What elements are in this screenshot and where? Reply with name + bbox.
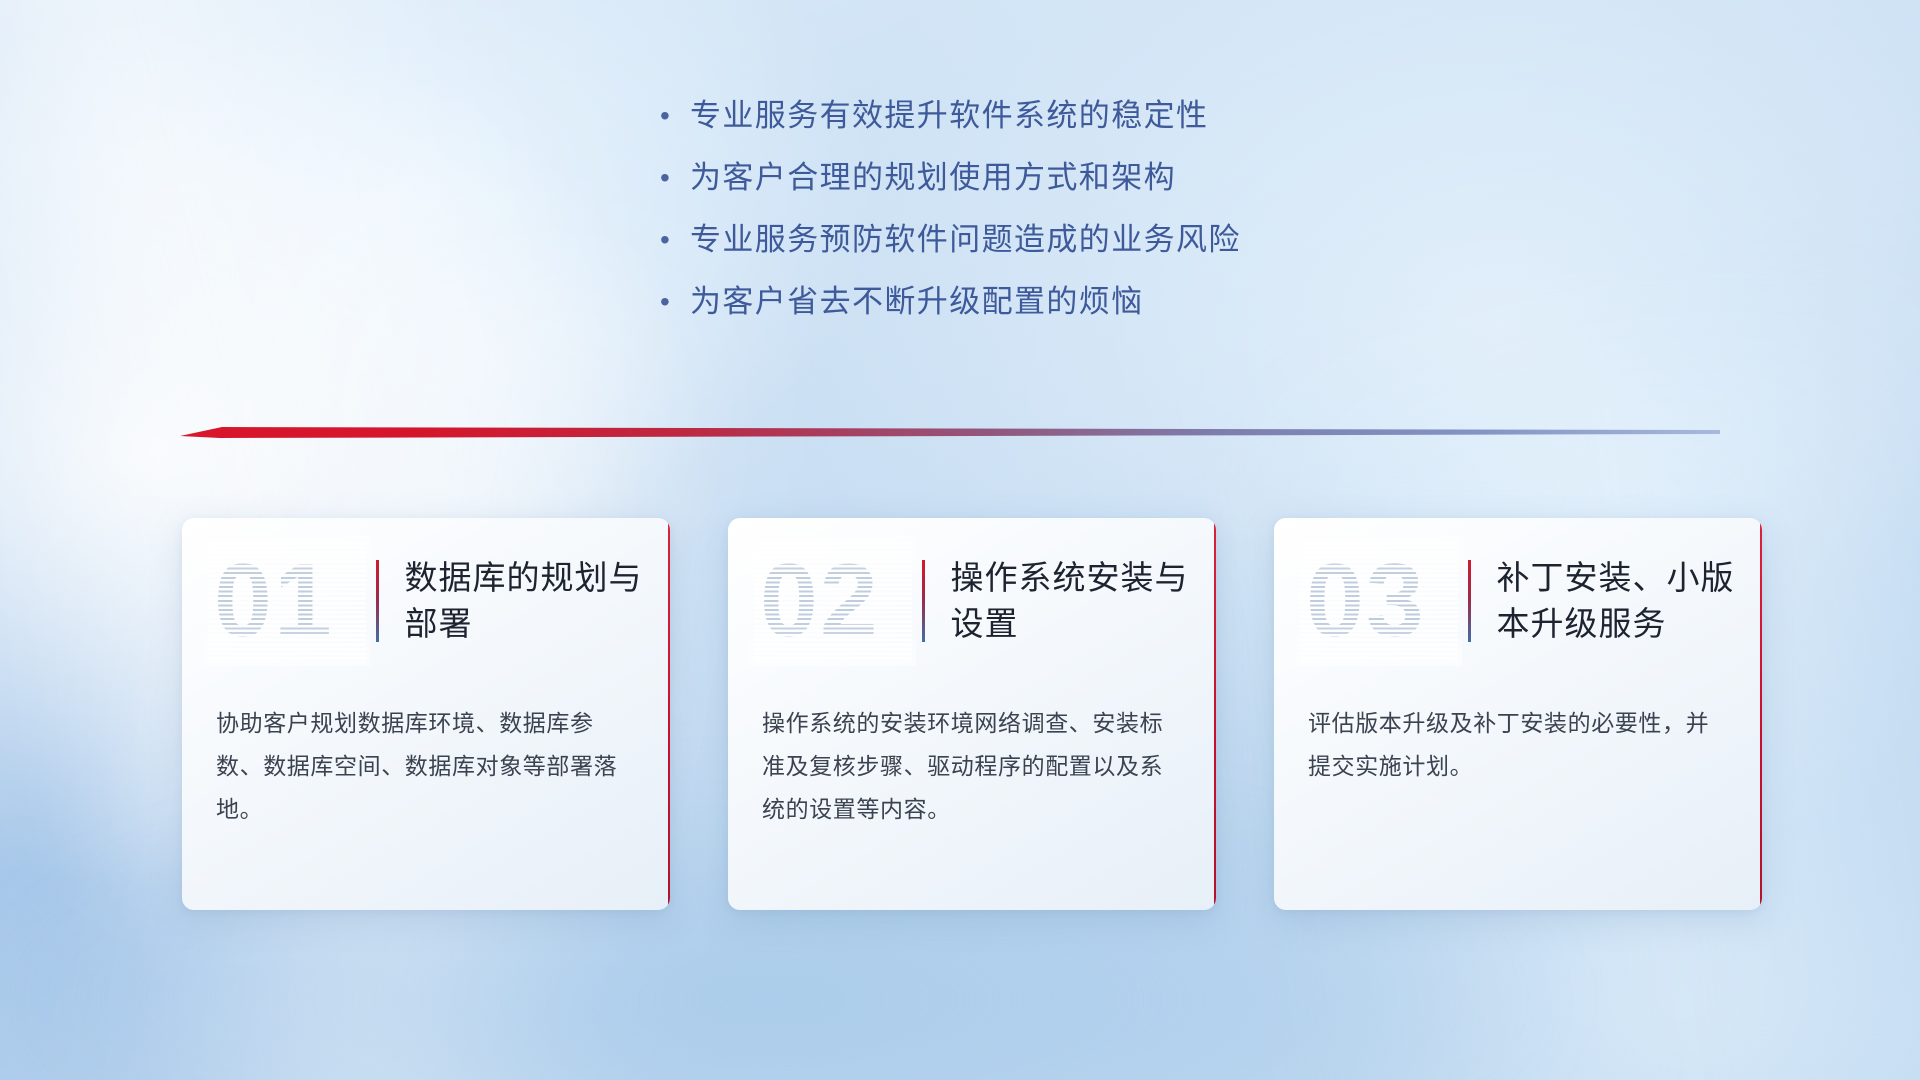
card-number-text: 01 xyxy=(214,546,360,656)
list-item: • 为客户合理的规划使用方式和架构 xyxy=(660,156,1480,200)
benefits-bullet-list: • 专业服务有效提升软件系统的稳定性 • 为客户合理的规划使用方式和架构 • 专… xyxy=(660,94,1480,342)
card-number-watermark: 03 xyxy=(1306,546,1452,656)
list-item: • 为客户省去不断升级配置的烦恼 xyxy=(660,280,1480,324)
title-accent-rule xyxy=(922,560,925,642)
card-title: 数据库的规划与部署 xyxy=(405,555,655,647)
card-number-watermark: 02 xyxy=(760,546,906,656)
divider-wedge-icon xyxy=(180,424,1720,442)
bullet-point-icon: • xyxy=(660,218,690,262)
list-item: • 专业服务有效提升软件系统的稳定性 xyxy=(660,94,1480,138)
card-header: 02 操作系统安装与设置 xyxy=(728,518,1216,684)
card-body-text: 操作系统的安装环境网络调查、安装标准及复核步骤、驱动程序的配置以及系统的设置等内… xyxy=(728,684,1216,831)
section-divider xyxy=(180,424,1720,442)
bullet-text: 为客户合理的规划使用方式和架构 xyxy=(690,156,1176,200)
list-item: • 专业服务预防软件问题造成的业务风险 xyxy=(660,218,1480,262)
title-accent-rule xyxy=(376,560,379,642)
card-number-text: 03 xyxy=(1306,546,1452,656)
card-header: 01 数据库的规划与部署 xyxy=(182,518,670,684)
service-card-list: 01 数据库的规划与部署 协助客户规划数据库环境、数据库参数、数据库空间、数据库… xyxy=(182,518,1762,910)
card-title: 操作系统安装与设置 xyxy=(951,555,1201,647)
bullet-point-icon: • xyxy=(660,280,690,324)
card-number-watermark: 01 xyxy=(214,546,360,656)
card-body-text: 评估版本升级及补丁安装的必要性，并提交实施计划。 xyxy=(1274,684,1762,788)
card-header: 03 补丁安装、小版本升级服务 xyxy=(1274,518,1762,684)
card-number-text: 02 xyxy=(760,546,906,656)
card-body-text: 协助客户规划数据库环境、数据库参数、数据库空间、数据库对象等部署落地。 xyxy=(182,684,670,831)
bullet-text: 专业服务预防软件问题造成的业务风险 xyxy=(690,218,1241,262)
bullet-text: 专业服务有效提升软件系统的稳定性 xyxy=(690,94,1208,138)
service-card-01[interactable]: 01 数据库的规划与部署 协助客户规划数据库环境、数据库参数、数据库空间、数据库… xyxy=(182,518,670,910)
bullet-point-icon: • xyxy=(660,156,690,200)
bullet-text: 为客户省去不断升级配置的烦恼 xyxy=(690,280,1144,324)
service-card-03[interactable]: 03 补丁安装、小版本升级服务 评估版本升级及补丁安装的必要性，并提交实施计划。 xyxy=(1274,518,1762,910)
service-card-02[interactable]: 02 操作系统安装与设置 操作系统的安装环境网络调查、安装标准及复核步骤、驱动程… xyxy=(728,518,1216,910)
bullet-point-icon: • xyxy=(660,94,690,138)
title-accent-rule xyxy=(1468,560,1471,642)
card-title: 补丁安装、小版本升级服务 xyxy=(1497,555,1747,647)
